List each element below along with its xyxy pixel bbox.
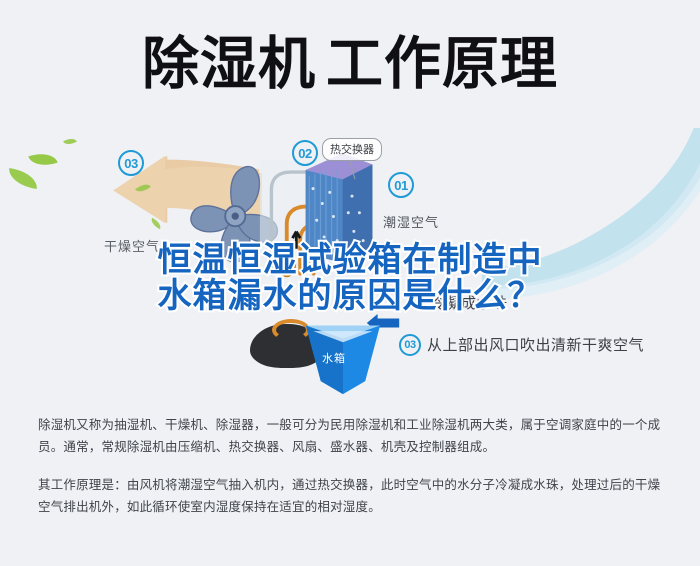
paragraph-2: 其工作原理是：由风机将潮湿空气抽入机内，通过热交换器，此时空气中的水分子冷凝成水… xyxy=(38,474,668,518)
label-step-02-text: 冷凝成水珠 xyxy=(430,292,508,313)
page-title: 除湿机工作原理 xyxy=(0,0,700,128)
title-text: 除湿机工作原理 xyxy=(142,36,558,93)
paragraph-1: 除湿机又称为抽湿机、干燥机、除湿器，一般可分为民用除湿机和工业除湿机两大类，属于… xyxy=(38,414,668,458)
title-part1: 除湿机 xyxy=(142,32,316,96)
label-step-03-text: 从上部出风口吹出清新干爽空气 xyxy=(427,334,644,355)
body-copy: 除湿机又称为抽湿机、干燥机、除湿器，一般可分为民用除湿机和工业除湿机两大类，属于… xyxy=(38,414,668,518)
label-water-tank: 水箱 xyxy=(322,350,408,410)
callout-badge-02: 02 xyxy=(292,140,318,166)
callout-badge-01: 01 xyxy=(388,172,414,198)
leaf-icon xyxy=(7,168,39,189)
heat-exchanger-tooltip: 热交换器 xyxy=(322,138,382,161)
leaf-icon xyxy=(63,135,77,147)
callout-badge-03-left: 03 xyxy=(118,150,144,176)
page-root: 除湿机工作原理 xyxy=(0,0,700,566)
leaf-icon xyxy=(28,148,57,170)
label-dry-air: 干燥空气 xyxy=(104,236,160,255)
title-part2: 工作原理 xyxy=(326,32,558,96)
heat-exchanger-graphic xyxy=(300,150,378,270)
label-humid-air: 潮湿空气 xyxy=(383,212,439,231)
illustration-stage: 03 02 01 03 热交换器 干燥空气 潮湿空气 水箱 冷凝成水珠 从上部出… xyxy=(0,128,700,410)
